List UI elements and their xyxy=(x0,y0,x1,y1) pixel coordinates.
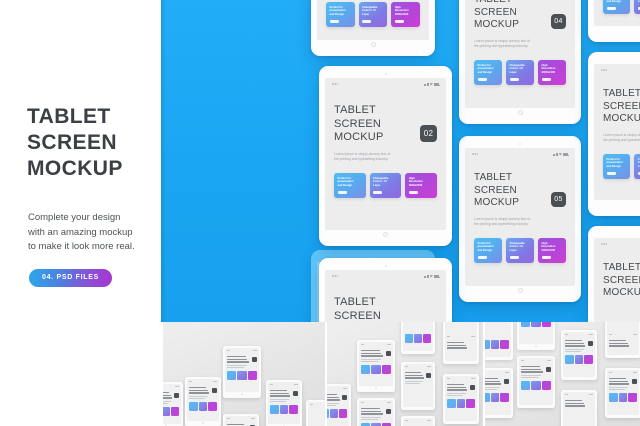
tablet-screen: 9:41 TABLET SCREEN MOCKUP xyxy=(325,270,446,322)
mini-lorem xyxy=(361,359,391,361)
mini-lorem xyxy=(189,396,217,398)
tablet-screen: Perfect for presentation and Design Chan… xyxy=(594,0,640,26)
mini-status-bar xyxy=(483,372,509,373)
mini-status-bar xyxy=(565,394,593,395)
mini-status-bar xyxy=(405,420,431,421)
mockup-presentation-stage: 9:41 TABLET SCREEN MOCKUP xyxy=(0,0,640,426)
feature-card-1-title: Perfect for presentation and Design xyxy=(607,158,627,169)
screen-number-badge: 05 xyxy=(551,192,566,207)
feature-card-3-title: High Resolution 3000x2100 xyxy=(395,6,417,17)
mini-tablet[interactable] xyxy=(325,384,351,426)
tablet-screen: 9:41 04 TABLET SCREEN MOCKUP L xyxy=(465,0,575,108)
mini-tablet[interactable] xyxy=(401,362,435,410)
mini-number-badge xyxy=(293,391,298,396)
feature-card-1-title: Perfect for presentation and Design xyxy=(338,177,363,188)
mini-title xyxy=(609,340,637,347)
screen-lorem: Lorem Ipsum is simply dummy text of the … xyxy=(334,152,408,162)
feature-card-2[interactable]: Changeable Colors / UI Layer xyxy=(370,173,402,198)
feature-card-3-title: High Resolution 3000x2100 xyxy=(409,177,434,188)
feature-card-2[interactable]: Changeable Colors / UI Layer xyxy=(634,154,640,179)
mini-cards xyxy=(447,399,475,408)
feature-card-1-button[interactable] xyxy=(478,78,487,80)
screen-lorem: Lorem Ipsum is simply dummy text of the … xyxy=(474,217,540,227)
mini-status-bar xyxy=(609,334,637,335)
screen-lorem: Lorem Ipsum is simply dummy text of the … xyxy=(474,39,540,49)
mini-tablet[interactable] xyxy=(266,380,302,426)
page-title-line-3: MOCKUP xyxy=(27,156,123,182)
home-button-icon xyxy=(241,393,243,395)
mini-cards xyxy=(483,393,509,402)
feature-card-3[interactable]: High Resolution 3000x2100 xyxy=(538,60,566,85)
feature-card-2-button[interactable] xyxy=(510,78,519,80)
mini-tablet[interactable] xyxy=(401,322,435,354)
tablet-top-center[interactable]: 9:41 TABLET SCREEN MOCKUP xyxy=(311,0,435,56)
battery-icon xyxy=(563,153,568,156)
mini-screen xyxy=(607,322,640,355)
mini-number-badge xyxy=(252,357,257,362)
mini-number-badge xyxy=(470,385,475,390)
mini-screen xyxy=(225,416,258,426)
feature-cards: Perfect for presentation and Design Chan… xyxy=(334,173,437,198)
mini-screen xyxy=(308,402,325,426)
mini-status-bar xyxy=(227,418,255,419)
mini-screen xyxy=(563,392,596,426)
mini-status-bar xyxy=(447,336,475,337)
tablet-far-right-top[interactable]: Perfect for presentation and Design Chan… xyxy=(588,0,640,42)
mini-screen xyxy=(519,322,554,344)
feature-card-2[interactable]: Changeable Colors / UI Layer xyxy=(506,60,534,85)
feature-card-1-title: Perfect for presentation and Design xyxy=(330,6,352,17)
mini-title xyxy=(565,400,593,407)
mini-tablet[interactable] xyxy=(443,322,479,364)
screen-body: TABLET SCREEN MOCKUP xyxy=(325,278,446,322)
mini-tablet[interactable] xyxy=(161,382,183,426)
status-bar: 9:41 xyxy=(594,238,640,246)
mini-number-badge xyxy=(504,379,509,384)
screen-title: TABLET SCREEN MOCKUP xyxy=(603,262,640,300)
mini-status-bar xyxy=(361,402,391,403)
mini-status-bar xyxy=(161,386,179,387)
screen-body: 05 TABLET SCREEN MOCKUP Lorem Ipsum is s… xyxy=(465,156,575,286)
mini-screen xyxy=(359,400,394,426)
mini-tablet[interactable] xyxy=(401,416,435,426)
mini-tablet[interactable] xyxy=(483,322,513,360)
mini-cards xyxy=(227,371,257,380)
mini-number-badge xyxy=(174,393,179,398)
mini-lorem xyxy=(227,365,257,367)
mini-title xyxy=(447,342,475,349)
front-camera-icon xyxy=(385,265,387,267)
page-title-line-2: SCREEN xyxy=(27,130,123,156)
front-camera-icon xyxy=(519,143,521,145)
mini-status-bar xyxy=(609,372,637,373)
mini-number-badge xyxy=(588,341,593,346)
mini-status-bar xyxy=(270,384,298,385)
mini-number-badge xyxy=(212,388,217,393)
mini-screen xyxy=(403,364,434,407)
screen-number-badge: 04 xyxy=(551,14,566,29)
tablet-screen: 9:41 TABLET SCREEN MOCKUP Lorem Ipsum is xyxy=(594,64,640,200)
mini-screen xyxy=(161,384,181,424)
mini-status-bar xyxy=(310,404,325,405)
feature-cards: Perfect for presentation and Design Chan… xyxy=(326,2,420,27)
feature-card-3-button[interactable] xyxy=(542,78,551,80)
mini-lorem xyxy=(270,399,298,401)
home-button-icon[interactable] xyxy=(371,42,376,47)
feature-card-3-button[interactable] xyxy=(395,20,404,22)
mini-cards xyxy=(325,409,347,418)
feature-card-3[interactable]: High Resolution 3000x2100 xyxy=(405,173,437,198)
feature-card-1-button[interactable] xyxy=(330,20,339,22)
feature-card-1[interactable]: Perfect for presentation and Design xyxy=(603,154,630,179)
feature-card-1[interactable]: Perfect for presentation and Design xyxy=(603,0,630,14)
mini-tablet[interactable] xyxy=(561,330,597,380)
mini-tablet[interactable] xyxy=(483,368,513,418)
mini-lorem xyxy=(565,349,593,351)
mini-cards xyxy=(565,355,593,364)
mini-status-bar xyxy=(405,366,431,367)
mini-cards xyxy=(189,402,217,411)
mini-cards xyxy=(361,423,391,426)
mini-screen xyxy=(187,379,220,421)
feature-card-3-button[interactable] xyxy=(542,256,551,258)
mini-lorem xyxy=(161,401,179,403)
status-bar: 9:41 xyxy=(594,64,640,72)
home-button-icon xyxy=(202,422,204,424)
mini-tablet[interactable] xyxy=(605,322,640,358)
mini-tablet[interactable] xyxy=(357,398,395,426)
battery-icon xyxy=(434,83,439,86)
mini-tablet[interactable] xyxy=(223,414,259,426)
feature-card-3[interactable]: High Resolution 3000x2100 xyxy=(391,2,420,27)
feature-cards: Perfect for presentation and Design Chan… xyxy=(603,154,640,179)
mini-screen xyxy=(359,342,394,386)
feature-card-2-button[interactable] xyxy=(373,191,382,193)
mini-cards xyxy=(270,405,298,414)
status-bar: 9:41 xyxy=(465,148,575,156)
mini-number-badge xyxy=(546,367,551,372)
mini-screen xyxy=(519,358,554,405)
preview-panel-1[interactable] xyxy=(161,322,325,426)
battery-icon xyxy=(434,275,439,278)
mini-tablet[interactable] xyxy=(306,400,325,426)
mini-number-badge xyxy=(342,395,347,400)
mini-lorem xyxy=(361,417,391,419)
screen-body: TABLET SCREEN MOCKUP Lorem Ipsum is simp… xyxy=(594,72,640,200)
page-subtitle-line-2: with an amazing mockup xyxy=(28,226,150,241)
feature-card-1-button[interactable] xyxy=(338,191,347,193)
page-subtitle-line-1: Complete your design xyxy=(28,211,150,226)
mini-lorem xyxy=(405,381,431,383)
mini-cards xyxy=(483,340,509,349)
mini-screen xyxy=(325,386,349,426)
mini-cards xyxy=(521,322,551,327)
intro-text-panel: TABLET SCREEN MOCKUP Complete your desig… xyxy=(0,0,161,322)
screen-body: TABLET SCREEN MOCKUP Perfect for present… xyxy=(317,0,429,40)
mini-number-badge xyxy=(632,379,637,384)
tablet-screen: 9:41 05 TABLET SCREEN MOCKUP L xyxy=(465,148,575,286)
mini-lorem xyxy=(325,403,347,405)
feature-card-3[interactable]: High Resolution 3000x2100 xyxy=(538,238,566,263)
feature-card-1[interactable]: Perfect for presentation and Design xyxy=(334,173,366,198)
status-bar: 9:41 xyxy=(325,270,446,278)
mini-status-bar xyxy=(447,378,475,379)
mini-tablet[interactable] xyxy=(561,390,597,426)
home-button-icon xyxy=(535,345,537,347)
screen-lorem: Lorem Ipsum is simply dummy text of the … xyxy=(603,133,640,143)
tablet-far-right-bottom[interactable]: 9:41 TABLET SCREEN MOCKUP xyxy=(588,226,640,322)
mini-tablet[interactable] xyxy=(517,356,555,408)
mini-screen xyxy=(445,376,478,421)
mini-screen xyxy=(483,322,511,357)
feature-card-2[interactable]: Changeable Colors / UI Layer xyxy=(634,0,640,14)
mini-status-bar xyxy=(565,334,593,335)
mini-tablet[interactable] xyxy=(517,322,555,350)
feature-card-2-title: Changeable Colors / UI Layer xyxy=(510,242,531,253)
mini-status-bar xyxy=(189,381,217,382)
screen-title: TABLET SCREEN MOCKUP xyxy=(334,296,437,322)
tablet-right-05[interactable]: 9:41 05 TABLET SCREEN MOCKUP L xyxy=(459,136,581,302)
mini-cards xyxy=(609,393,637,402)
front-camera-icon xyxy=(385,73,387,75)
mini-screen xyxy=(268,382,301,424)
mini-cards xyxy=(361,365,391,374)
feature-card-1-title: Perfect for presentation and Design xyxy=(478,64,499,75)
mini-screen xyxy=(563,332,596,377)
feature-card-2-title: Changeable Colors / UI Layer xyxy=(510,64,531,75)
mini-tablet[interactable] xyxy=(223,346,261,398)
mini-lorem xyxy=(447,393,475,395)
feature-card-1-button[interactable] xyxy=(478,256,487,258)
mini-number-badge xyxy=(386,409,391,414)
feature-card-1[interactable]: Perfect for presentation and Design xyxy=(326,2,355,27)
screen-body: TABLET SCREEN MOCKUP xyxy=(594,246,640,322)
feature-card-2-title: Changeable Colors / UI Layer xyxy=(373,177,398,188)
preview-thumbnail-strip xyxy=(0,322,640,426)
mini-status-bar xyxy=(227,350,257,351)
mini-screen xyxy=(403,322,434,351)
feature-card-2-button[interactable] xyxy=(362,20,371,22)
mini-status-bar xyxy=(325,388,347,389)
feature-card-3-button[interactable] xyxy=(409,191,418,193)
mini-cards xyxy=(405,334,431,343)
preview-panel-2[interactable] xyxy=(325,322,483,426)
mini-screen xyxy=(483,370,511,415)
tablet-main-02[interactable]: 9:41 02 TABLET SCREEN MOCKUP L xyxy=(319,66,452,246)
mini-screen xyxy=(403,418,434,426)
feature-card-1[interactable]: Perfect for presentation and Design xyxy=(474,60,502,85)
page-title-line-1: TABLET xyxy=(27,104,123,130)
mini-lorem xyxy=(483,387,509,389)
psd-files-badge[interactable]: 04. PSD FILES xyxy=(29,269,112,287)
mini-status-bar xyxy=(521,360,551,361)
mini-lorem xyxy=(609,387,637,389)
mini-screen xyxy=(225,348,260,392)
mini-lorem xyxy=(521,375,551,377)
feature-card-2[interactable]: Changeable Colors / UI Layer xyxy=(506,238,534,263)
feature-cards: Perfect for presentation and Design Chan… xyxy=(474,238,566,263)
feature-card-1-title: Perfect for presentation and Design xyxy=(607,0,627,3)
feature-card-2-button[interactable] xyxy=(510,256,519,258)
feature-card-1[interactable]: Perfect for presentation and Design xyxy=(474,238,502,263)
feature-card-2[interactable]: Changeable Colors / UI Layer xyxy=(359,2,388,27)
strip-left-spacer xyxy=(0,322,161,426)
feature-card-1-button[interactable] xyxy=(607,7,616,9)
page-title: TABLET SCREEN MOCKUP xyxy=(27,104,123,182)
feature-card-3-title: High Resolution 3000x2100 xyxy=(542,64,563,75)
screen-title: TABLET SCREEN MOCKUP xyxy=(603,88,640,126)
mini-cards xyxy=(161,407,179,416)
tablet-bottom-center[interactable]: 9:41 TABLET SCREEN MOCKUP xyxy=(319,258,452,322)
tablet-far-right-06[interactable]: 9:41 TABLET SCREEN MOCKUP Lorem Ipsum is xyxy=(588,52,640,216)
feature-card-2-title: Changeable Colors / UI Layer xyxy=(362,6,384,17)
mini-screen xyxy=(445,322,478,361)
mini-status-bar xyxy=(361,344,391,345)
feature-cards: Perfect for presentation and Design Chan… xyxy=(474,60,566,85)
mini-tablet[interactable] xyxy=(357,340,395,392)
hero-blue-background: 9:41 TABLET SCREEN MOCKUP xyxy=(161,0,640,322)
status-bar: 9:41 xyxy=(325,78,446,86)
mini-tablet[interactable] xyxy=(185,377,221,426)
mini-number-badge xyxy=(386,351,391,356)
page-subtitle: Complete your design with an amazing moc… xyxy=(28,211,150,255)
feature-cards: Perfect for presentation and Design Chan… xyxy=(603,0,640,14)
screen-body: Perfect for presentation and Design Chan… xyxy=(594,0,640,26)
tablet-screen: 9:41 02 TABLET SCREEN MOCKUP L xyxy=(325,78,446,230)
mini-cards xyxy=(521,381,551,390)
screen-body: 04 TABLET SCREEN MOCKUP Lorem Ipsum is s… xyxy=(465,0,575,108)
home-button-icon xyxy=(375,387,377,389)
mini-tablet[interactable] xyxy=(443,374,479,424)
home-button-icon[interactable] xyxy=(518,110,523,115)
home-button-icon[interactable] xyxy=(518,288,523,293)
mini-tablet[interactable] xyxy=(605,368,640,418)
mini-number-badge xyxy=(426,373,431,378)
tablet-screen: 9:41 TABLET SCREEN MOCKUP xyxy=(594,238,640,322)
preview-panel-3[interactable] xyxy=(483,322,640,426)
mini-screen xyxy=(607,370,640,415)
tablet-screen: 9:41 TABLET SCREEN MOCKUP xyxy=(317,0,429,40)
screen-body: 02 TABLET SCREEN MOCKUP Lorem Ipsum is s… xyxy=(325,86,446,230)
home-button-icon[interactable] xyxy=(383,232,388,237)
feature-card-1-title: Perfect for presentation and Design xyxy=(478,242,499,253)
page-subtitle-line-3: to make it look more real. xyxy=(28,240,150,255)
feature-card-3-title: High Resolution 3000x2100 xyxy=(542,242,563,253)
screen-number-badge: 02 xyxy=(420,125,437,142)
feature-card-1-button[interactable] xyxy=(607,172,616,174)
tablet-right-04[interactable]: 9:41 04 TABLET SCREEN MOCKUP L xyxy=(459,0,581,124)
